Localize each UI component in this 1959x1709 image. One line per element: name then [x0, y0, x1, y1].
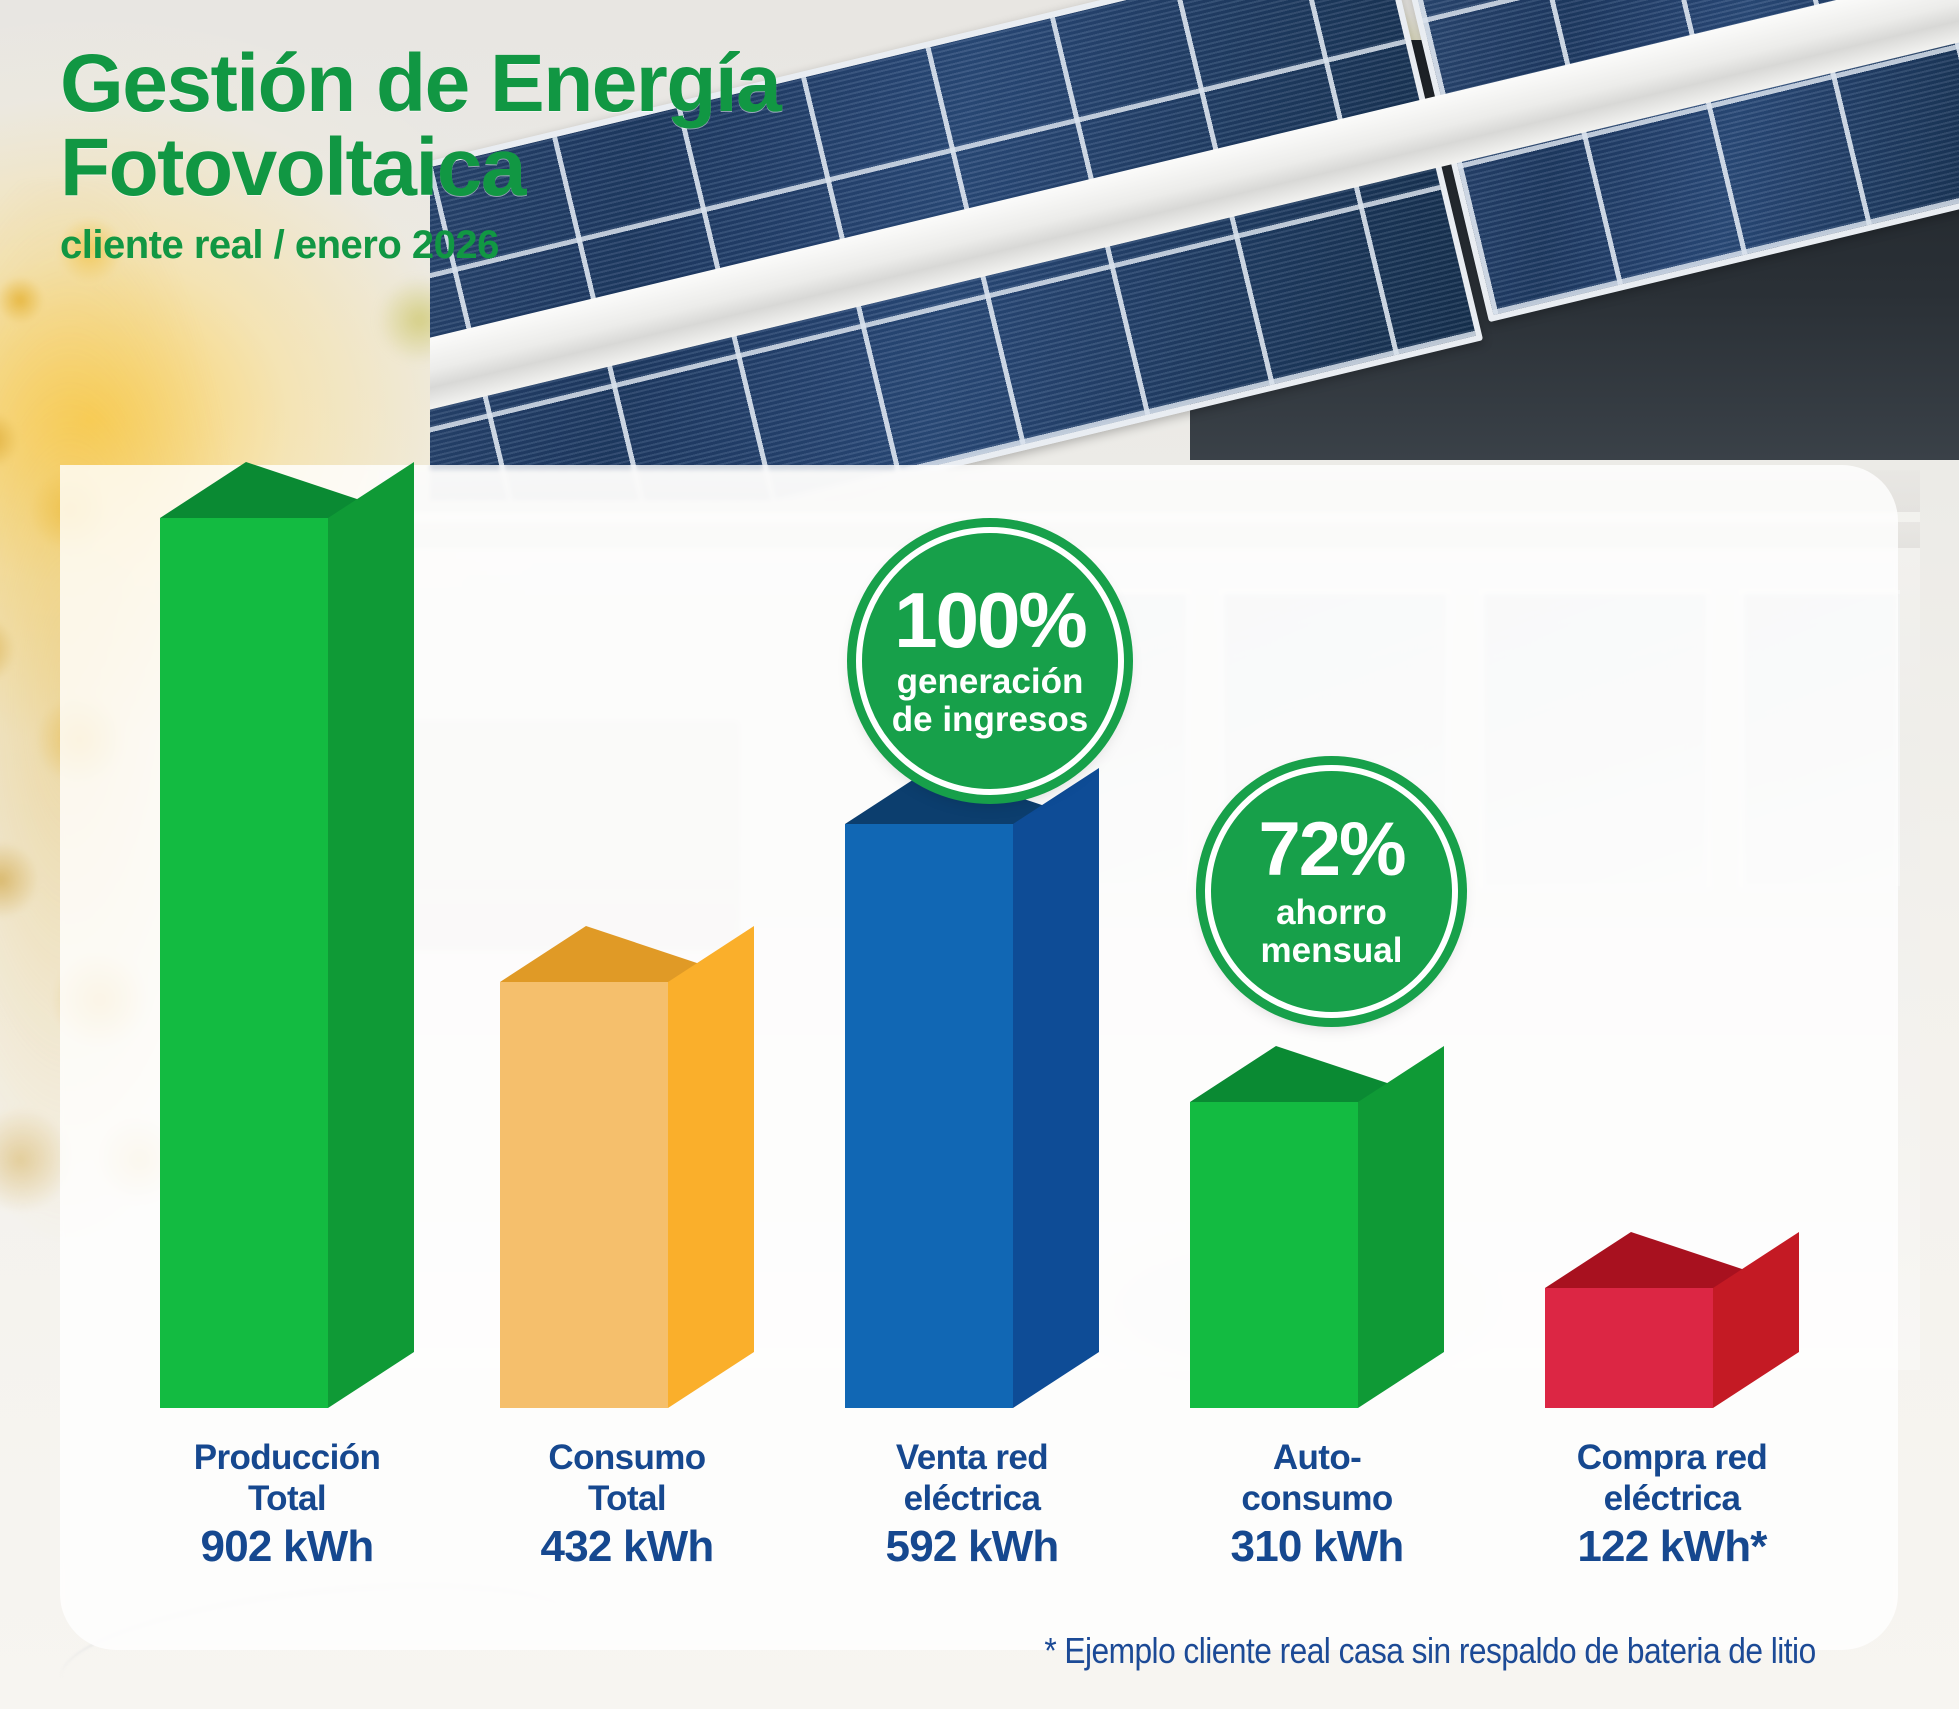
bar-3	[845, 768, 1099, 1408]
page-subtitle: cliente real / enero 2026	[60, 223, 780, 268]
bar-4	[1190, 1046, 1444, 1408]
bar-label-value: 432 kWh	[462, 1521, 792, 1572]
bar-label-1: ProducciónTotal902 kWh	[122, 1438, 452, 1572]
bar-label-name-line-2: eléctrica	[1507, 1479, 1837, 1520]
page-title-line-1: Gestión de Energía	[60, 42, 780, 126]
bar-face-front	[1545, 1288, 1713, 1408]
bar-label-value: 902 kWh	[122, 1521, 452, 1572]
bar-face-side	[1713, 1232, 1799, 1408]
bar-2	[500, 926, 754, 1408]
bar-label-value: 310 kWh	[1152, 1521, 1482, 1572]
bar-label-value: 122 kWh*	[1507, 1521, 1837, 1572]
bar-label-name-line-2: consumo	[1152, 1479, 1482, 1520]
bar-label-name-line-1: Producción	[122, 1438, 452, 1479]
bar-label-name-line-2: Total	[462, 1479, 792, 1520]
footnote: * Ejemplo cliente real casa sin respaldo…	[990, 1630, 1870, 1672]
bar-label-name-line-1: Venta red	[807, 1438, 1137, 1479]
bar-5	[1545, 1232, 1799, 1408]
badge-percent: 100%	[894, 583, 1086, 657]
bar-label-4: Auto-consumo310 kWh	[1152, 1438, 1482, 1572]
title-block: Gestión de Energía Fotovoltaica cliente …	[60, 42, 780, 268]
badge-caption: generación de ingresos	[862, 663, 1118, 739]
badge-caption: ahorro mensual	[1211, 894, 1452, 970]
badge-generacion-ingresos: 100% generación de ingresos	[856, 527, 1124, 795]
badge-percent: 72%	[1258, 814, 1404, 886]
bar-label-3: Venta redeléctrica592 kWh	[807, 1438, 1137, 1572]
bar-label-name-line-1: Compra red	[1507, 1438, 1837, 1479]
page-title-line-2: Fotovoltaica	[60, 126, 780, 210]
bar-label-name-line-1: Consumo	[462, 1438, 792, 1479]
bar-label-value: 592 kWh	[807, 1521, 1137, 1572]
bar-face-front	[845, 824, 1013, 1408]
bar-face-side	[328, 462, 414, 1408]
bar-face-side	[1358, 1046, 1444, 1408]
infographic-canvas: Gestión de Energía Fotovoltaica cliente …	[0, 0, 1959, 1709]
bar-label-name-line-2: eléctrica	[807, 1479, 1137, 1520]
badge-ahorro-mensual: 72% ahorro mensual	[1205, 765, 1458, 1018]
bar-face-front	[1190, 1102, 1358, 1408]
bar-label-2: ConsumoTotal432 kWh	[462, 1438, 792, 1572]
bar-1	[160, 462, 414, 1408]
bar-label-name-line-1: Auto-	[1152, 1438, 1482, 1479]
bar-label-5: Compra redeléctrica122 kWh*	[1507, 1438, 1837, 1572]
bar-face-side	[668, 926, 754, 1408]
bar-face-side	[1013, 768, 1099, 1408]
bar-face-front	[160, 518, 328, 1408]
bar-face-front	[500, 982, 668, 1408]
bar-label-name-line-2: Total	[122, 1479, 452, 1520]
